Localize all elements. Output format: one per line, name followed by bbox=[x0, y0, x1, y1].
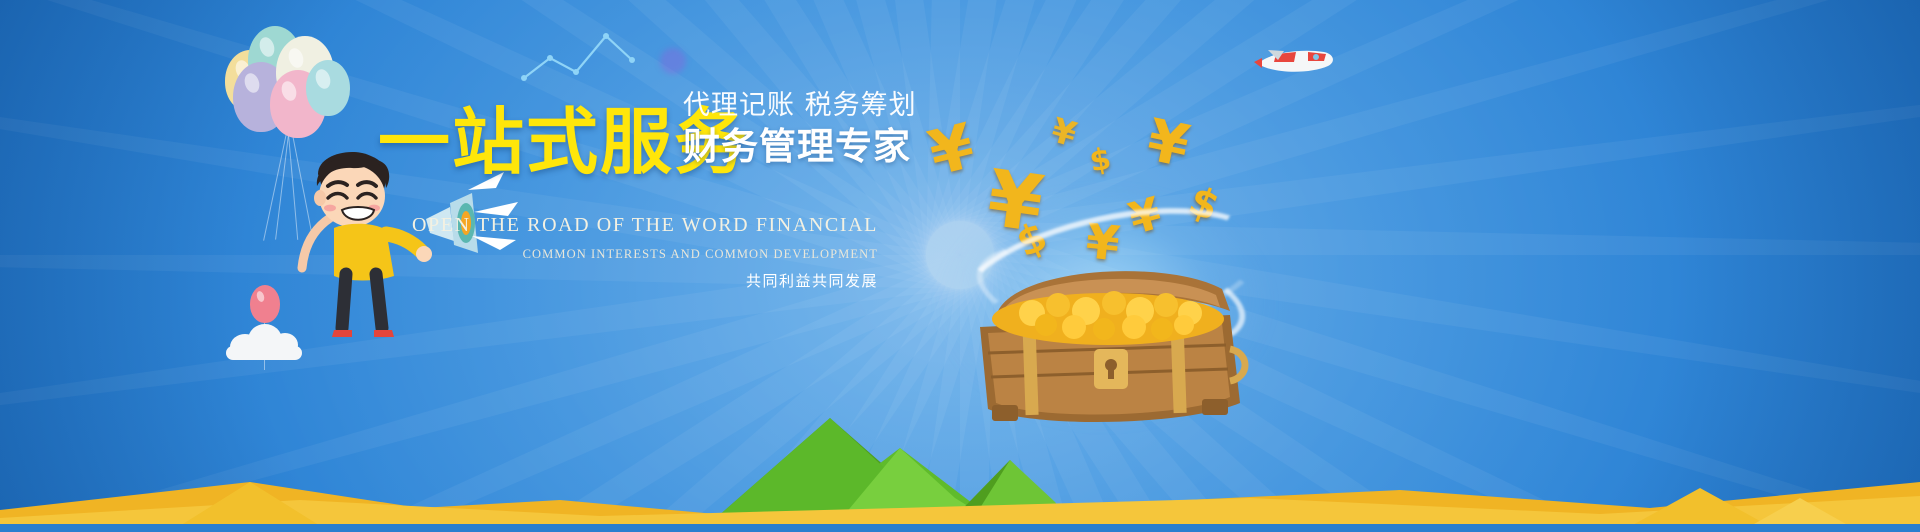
currency-symbol-yen: ¥ bbox=[922, 109, 982, 190]
balloon-icon bbox=[306, 60, 350, 116]
sub-title-services: 代理记账 税务筹划 bbox=[683, 92, 917, 119]
tagline-group: OPEN THE ROAD OF THE WORD FINANCIAL COMM… bbox=[378, 212, 878, 291]
bokeh-dot-decoration bbox=[660, 48, 686, 74]
promo-banner: 一站式服务 代理记账 税务筹划 财务管理专家 OPEN THE ROAD OF … bbox=[0, 0, 1920, 532]
landscape-foreground bbox=[0, 332, 1920, 532]
currency-symbol-yen: ¥ bbox=[1141, 106, 1195, 181]
airplane-icon bbox=[1250, 38, 1340, 84]
tagline-chinese: 共同利益共同发展 bbox=[378, 270, 878, 291]
subtitle-column: 代理记账 税务筹划 财务管理专家 bbox=[683, 92, 917, 165]
balloon-icon bbox=[250, 285, 280, 323]
line-chart-icon bbox=[520, 30, 640, 90]
sub-title-expert: 财务管理专家 bbox=[683, 128, 917, 165]
tagline-english-primary: OPEN THE ROAD OF THE WORD FINANCIAL bbox=[378, 212, 878, 239]
currency-symbol-yen: ¥ bbox=[1047, 111, 1081, 156]
currency-symbol-dollar: $ bbox=[1087, 141, 1114, 179]
tagline-english-secondary: COMMON INTERESTS AND COMMON DEVELOPMENT bbox=[378, 246, 878, 264]
